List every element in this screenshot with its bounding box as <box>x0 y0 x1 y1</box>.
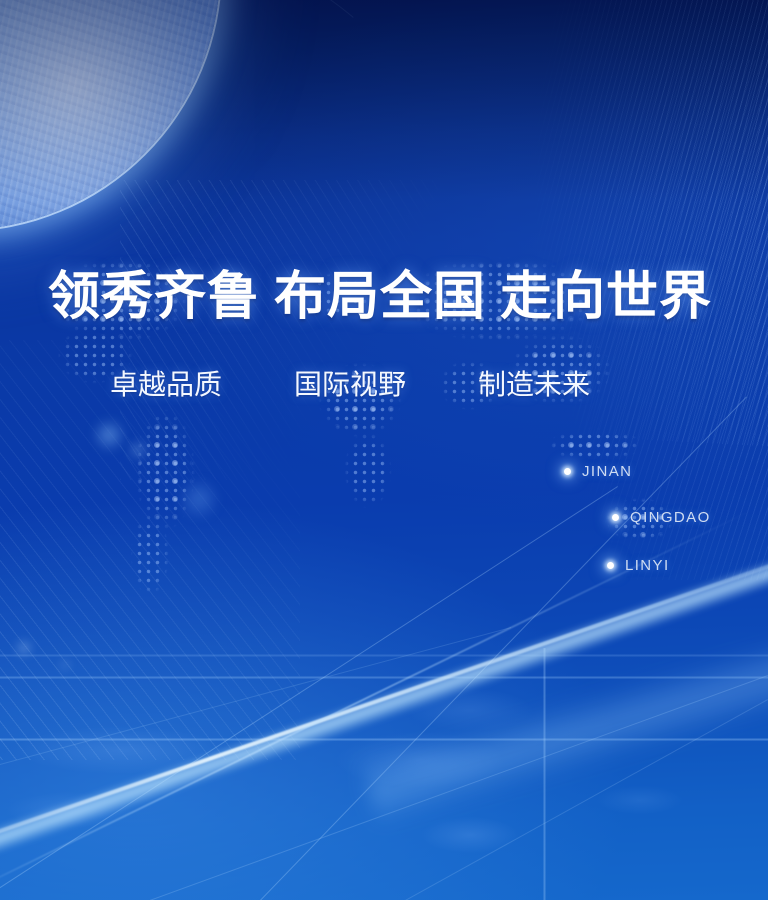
subtitle-part-1: 卓越品质 <box>110 370 222 401</box>
city-label: JINAN <box>582 463 632 480</box>
hero-banner: 领秀齐鲁 布局全国 走向世界 卓越品质 国际视野 制造未来 JINAN QING… <box>0 0 768 900</box>
bokeh-orb-3 <box>178 478 220 520</box>
city-dot-icon <box>607 562 614 569</box>
city-label: LINYI <box>625 557 670 574</box>
city-marker-linyi[interactable]: LINYI <box>607 557 670 574</box>
city-dot-icon <box>564 468 571 475</box>
city-marker-jinan[interactable]: JINAN <box>564 463 632 480</box>
subtitle: 卓越品质 国际视野 制造未来 <box>110 372 590 400</box>
city-dot-icon <box>612 514 619 521</box>
bokeh-orb-2 <box>128 440 148 460</box>
subtitle-part-2: 国际视野 <box>294 370 406 401</box>
bokeh-orb-1 <box>92 418 126 452</box>
subtitle-part-3: 制造未来 <box>478 370 590 401</box>
city-label: QINGDAO <box>630 509 711 526</box>
bokeh-orb-5 <box>60 660 70 670</box>
bokeh-orb-4 <box>16 640 32 656</box>
page-title: 领秀齐鲁 布局全国 走向世界 <box>48 272 712 324</box>
city-marker-qingdao[interactable]: QINGDAO <box>612 509 711 526</box>
